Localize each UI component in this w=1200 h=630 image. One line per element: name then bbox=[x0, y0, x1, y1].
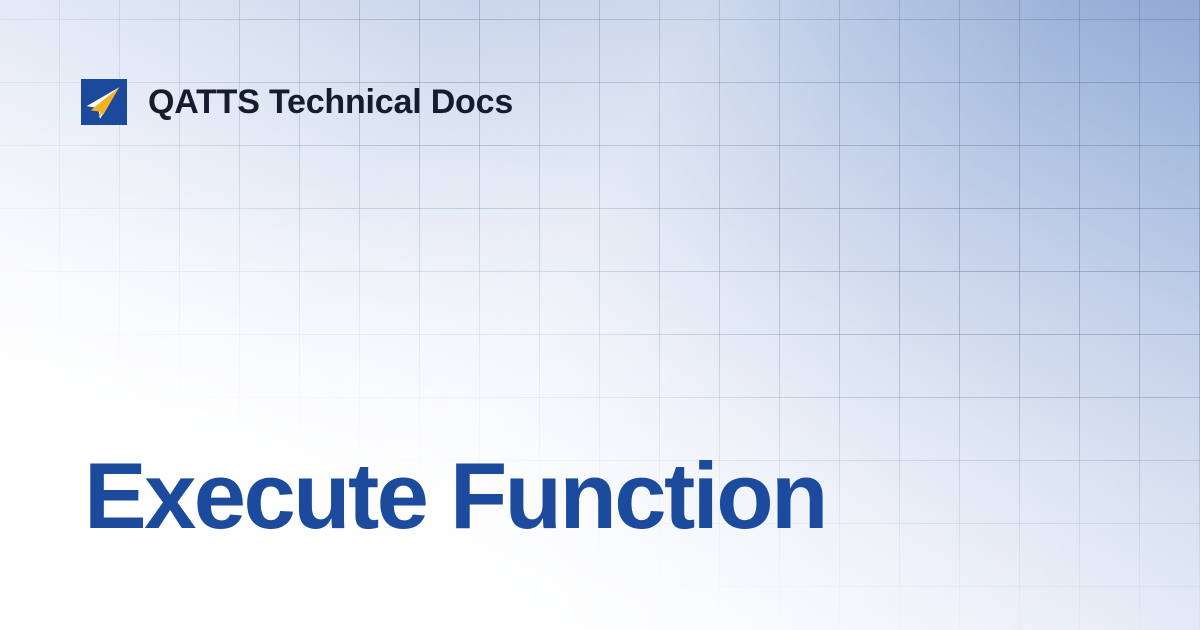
page-title: Execute Function bbox=[84, 448, 826, 544]
og-card: QATTS Technical Docs Execute Function bbox=[0, 0, 1200, 630]
brand-name: QATTS Technical Docs bbox=[148, 79, 513, 125]
paper-plane-icon bbox=[81, 79, 127, 125]
brand-lockup: QATTS Technical Docs bbox=[81, 79, 513, 125]
